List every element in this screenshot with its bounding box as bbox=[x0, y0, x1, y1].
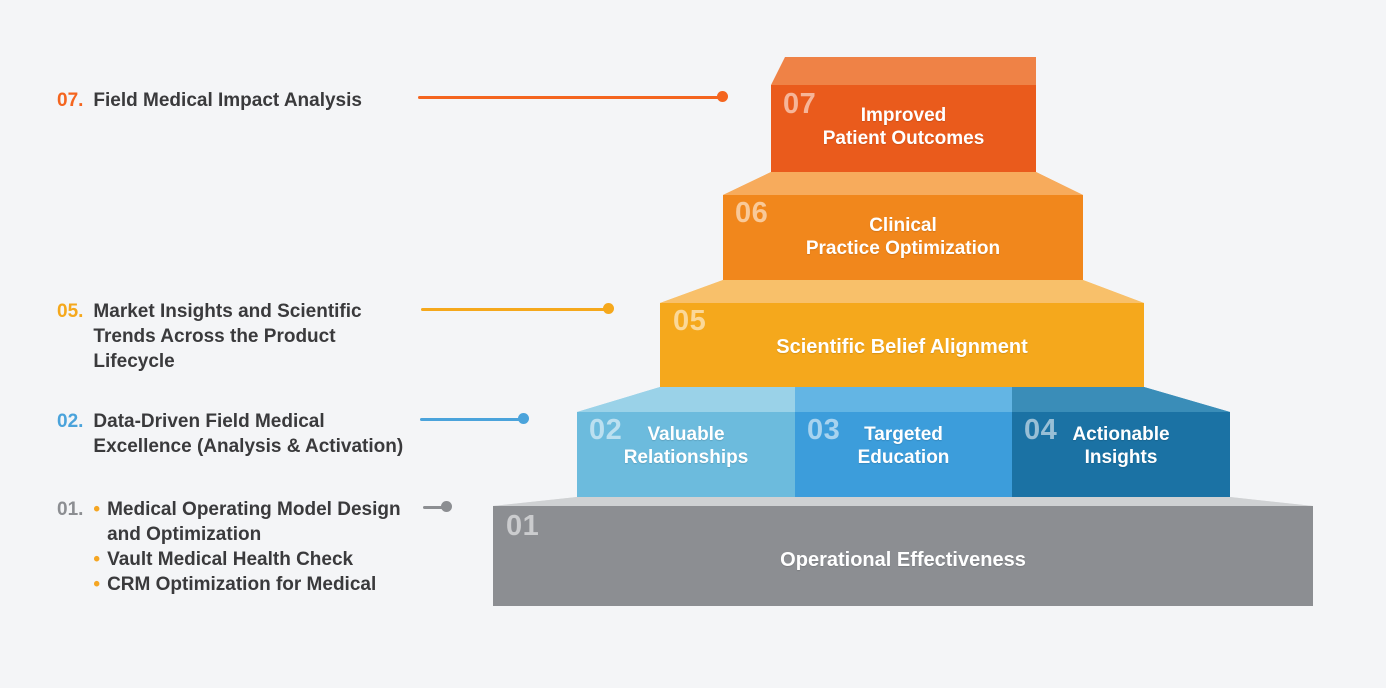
legend-body-02: Data-Driven Field Medical Excellence (An… bbox=[93, 409, 403, 459]
legend-bullet-text: Medical Operating Model Design and Optim… bbox=[107, 497, 401, 547]
legend-item-01[interactable]: 01.•Medical Operating Model Design and O… bbox=[57, 497, 401, 597]
tier-07-top-face bbox=[771, 57, 1036, 85]
legend-bullet: •CRM Optimization for Medical bbox=[93, 572, 400, 597]
tier-05-label: Scientific Belief Alignment bbox=[660, 335, 1144, 359]
legend-number-07: 07. bbox=[57, 88, 83, 113]
tier-04-top-face bbox=[1012, 387, 1230, 412]
tier-04-label: Actionable Insights bbox=[1012, 423, 1230, 469]
tier-03-label: Targeted Education bbox=[795, 423, 1012, 469]
legend-text-02: Data-Driven Field Medical Excellence (An… bbox=[93, 409, 403, 459]
legend-text-07: Field Medical Impact Analysis bbox=[93, 88, 362, 113]
connector-dot-02 bbox=[518, 413, 529, 424]
tier-06-top-face bbox=[723, 172, 1083, 195]
legend-number-05: 05. bbox=[57, 299, 83, 324]
connector-dot-05 bbox=[603, 303, 614, 314]
legend-body-01: •Medical Operating Model Design and Opti… bbox=[93, 497, 400, 597]
tier-05-top-face bbox=[660, 280, 1144, 303]
tier-07[interactable]: 07Improved Patient Outcomes bbox=[771, 85, 1036, 172]
tier-02-top-face bbox=[577, 387, 795, 412]
tier-05[interactable]: 05Scientific Belief Alignment bbox=[660, 303, 1144, 387]
tier-02-label: Valuable Relationships bbox=[577, 423, 795, 469]
legend-number-02: 02. bbox=[57, 409, 83, 434]
connector-line-02 bbox=[420, 418, 524, 421]
tier-04[interactable]: 04Actionable Insights bbox=[1012, 412, 1230, 497]
tier-05-number: 05 bbox=[673, 305, 706, 338]
legend-bullet: •Medical Operating Model Design and Opti… bbox=[93, 497, 400, 547]
connector-line-07 bbox=[418, 96, 722, 99]
tier-01-number: 01 bbox=[506, 510, 539, 543]
legend-body-05: Market Insights and Scientific Trends Ac… bbox=[93, 299, 361, 374]
tier-07-label: Improved Patient Outcomes bbox=[771, 104, 1036, 150]
tier-03-top-face bbox=[795, 387, 1012, 412]
legend-item-07[interactable]: 07.Field Medical Impact Analysis bbox=[57, 88, 362, 113]
bullet-dot-icon: • bbox=[93, 497, 100, 522]
tier-06[interactable]: 06Clinical Practice Optimization bbox=[723, 195, 1083, 280]
connector-line-05 bbox=[421, 308, 608, 311]
tier-01[interactable]: 01Operational Effectiveness bbox=[493, 506, 1313, 606]
bullet-dot-icon: • bbox=[93, 547, 100, 572]
connector-dot-01 bbox=[441, 501, 452, 512]
legend-item-02[interactable]: 02.Data-Driven Field Medical Excellence … bbox=[57, 409, 403, 459]
legend-bullet-text: CRM Optimization for Medical bbox=[107, 572, 376, 597]
tier-02[interactable]: 02Valuable Relationships bbox=[577, 412, 795, 497]
pyramid-infographic: 07Improved Patient Outcomes06Clinical Pr… bbox=[0, 0, 1386, 688]
tier-06-label: Clinical Practice Optimization bbox=[723, 214, 1083, 260]
bullet-dot-icon: • bbox=[93, 572, 100, 597]
legend-text-05: Market Insights and Scientific Trends Ac… bbox=[93, 299, 361, 374]
legend-bullet-text: Vault Medical Health Check bbox=[107, 547, 353, 572]
tier-01-top-face bbox=[493, 497, 1313, 506]
legend-bullet: •Vault Medical Health Check bbox=[93, 547, 400, 572]
tier-01-label: Operational Effectiveness bbox=[493, 548, 1313, 572]
tier-03[interactable]: 03Targeted Education bbox=[795, 412, 1012, 497]
legend-number-01: 01. bbox=[57, 497, 83, 522]
legend-body-07: Field Medical Impact Analysis bbox=[93, 88, 362, 113]
connector-dot-07 bbox=[717, 91, 728, 102]
legend-item-05[interactable]: 05.Market Insights and Scientific Trends… bbox=[57, 299, 362, 374]
